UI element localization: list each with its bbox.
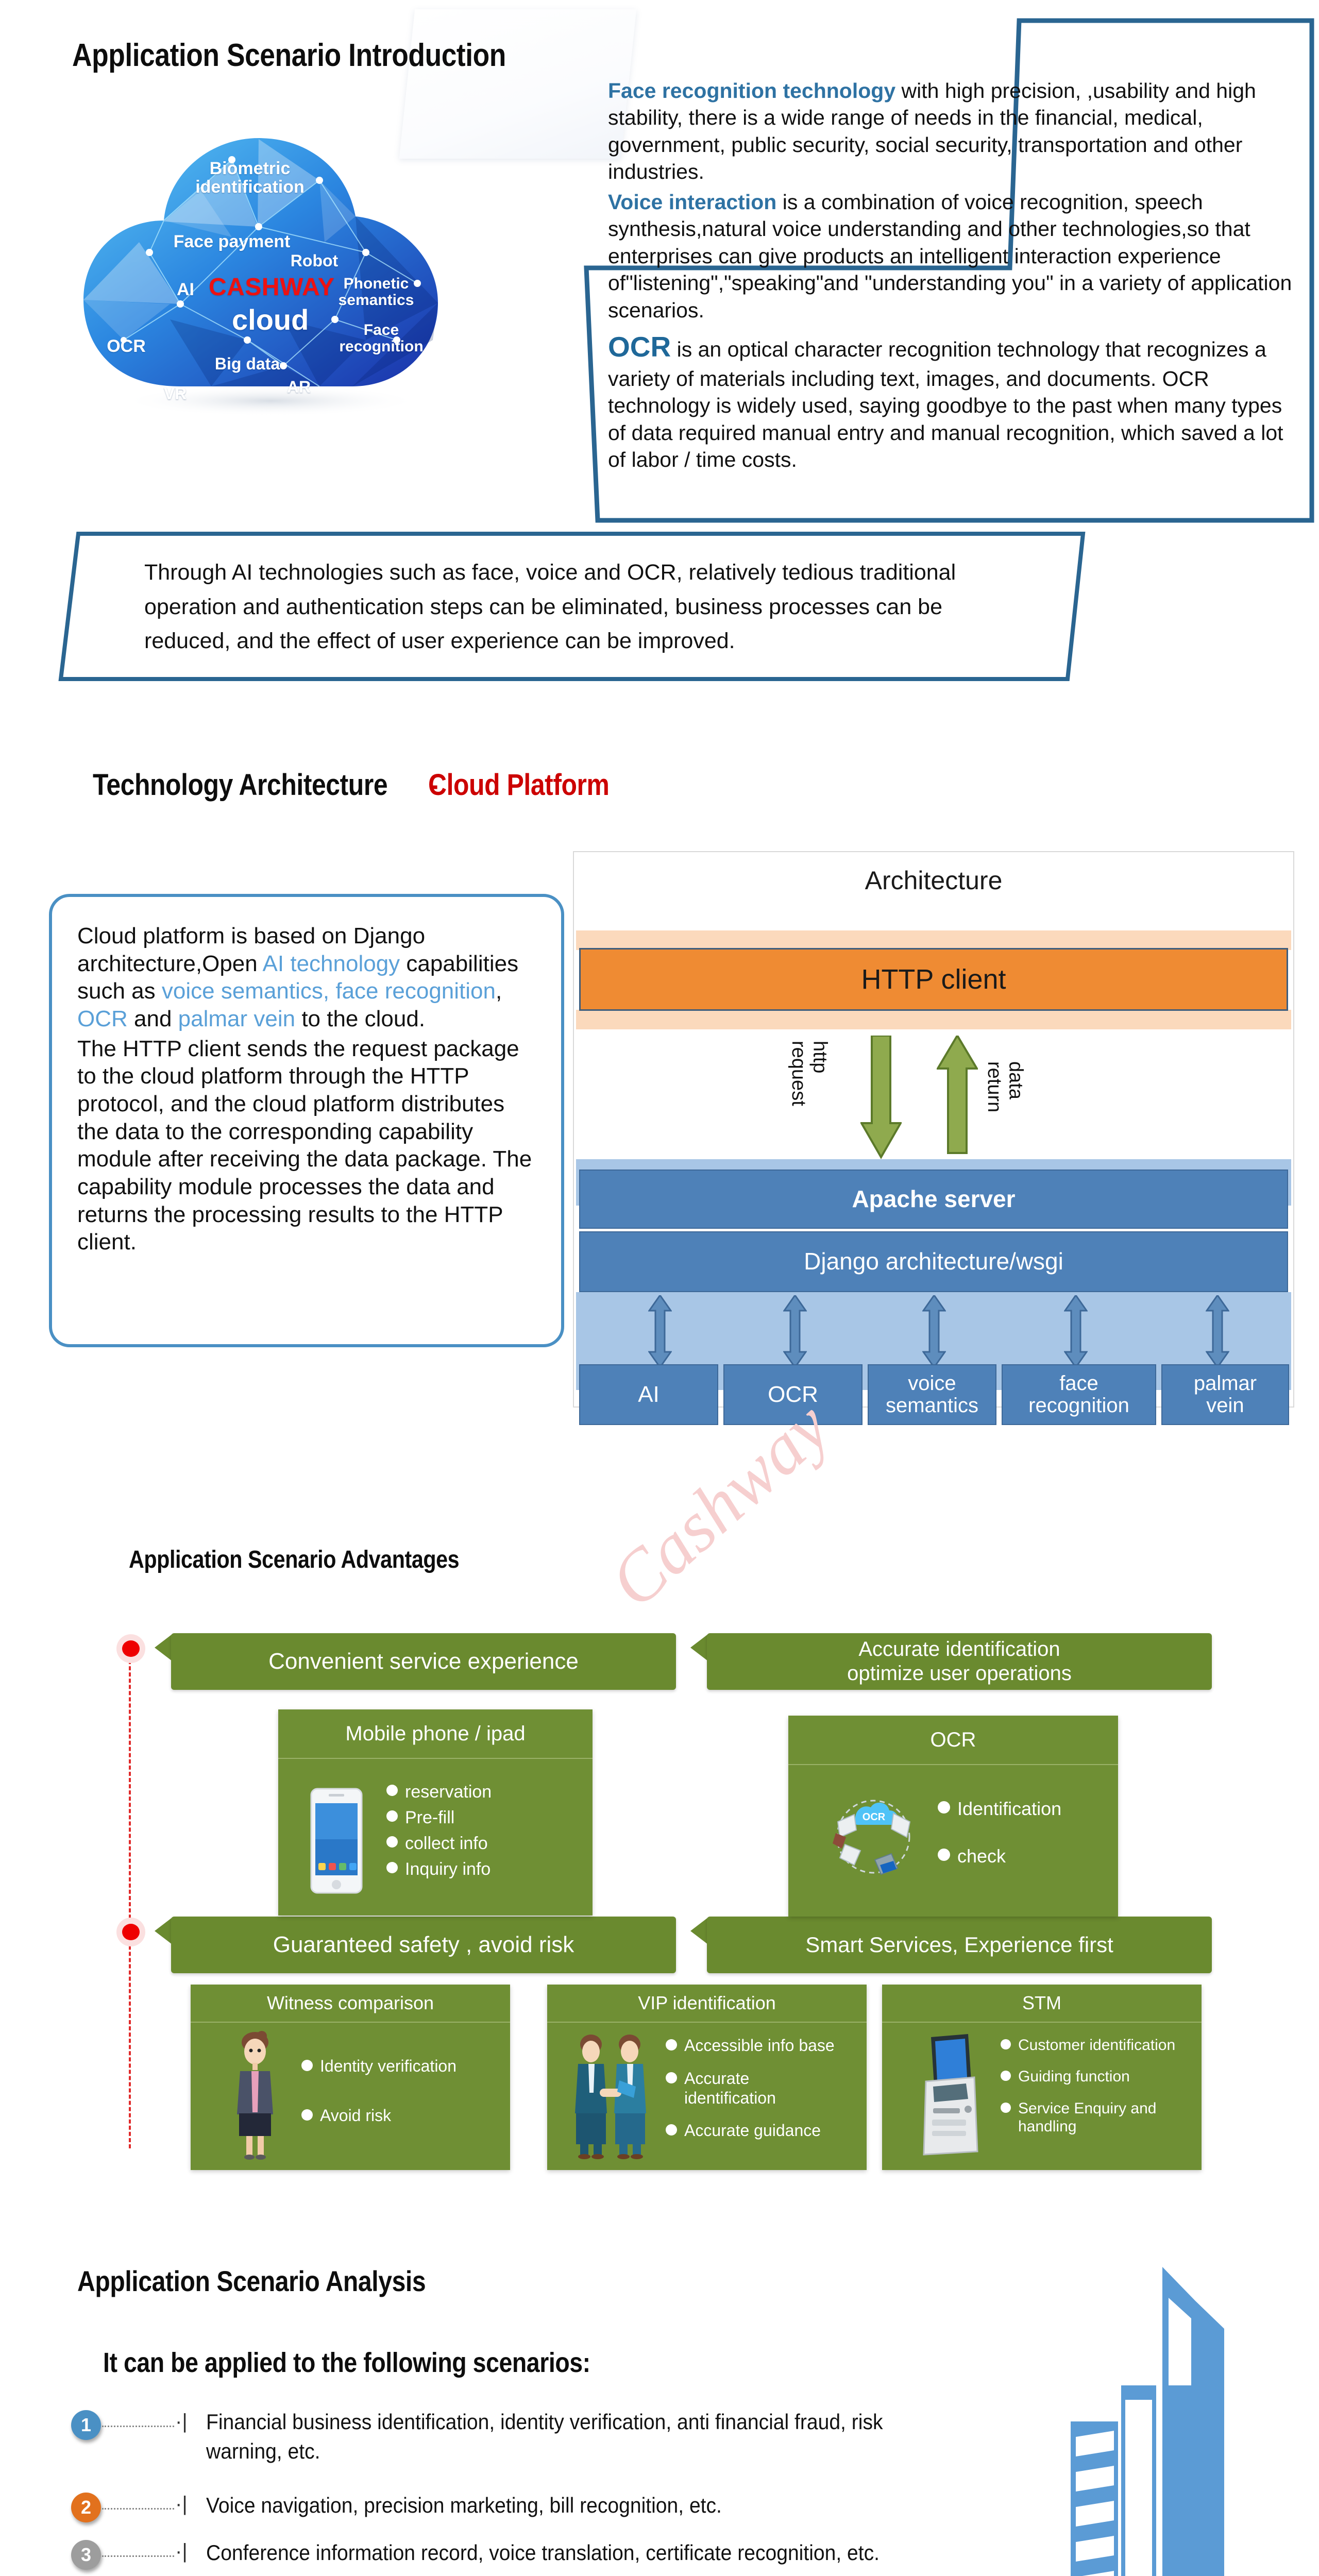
cp-hl-face: face recognition	[335, 978, 496, 1004]
bullet-label: check	[957, 1845, 1006, 1867]
analysis-badge-2: 2	[71, 2493, 101, 2522]
bullet-label: Inquiry info	[405, 1859, 491, 1879]
intro-heading-face: Face recognition technology	[608, 79, 895, 103]
bullet-dot	[666, 2039, 677, 2050]
ribbon-convenient-service[interactable]: Convenient service experience	[171, 1633, 676, 1690]
arrow-up-return	[937, 1036, 978, 1154]
cp-hl-ocr: OCR	[77, 1006, 128, 1031]
apache-server-bar[interactable]: Apache server	[579, 1170, 1288, 1229]
building-icon	[1041, 2267, 1257, 2576]
cp-text-3: ,	[496, 978, 502, 1004]
bullet-dot	[1001, 2039, 1011, 2049]
architecture-title-accent: Cloud Platform	[428, 768, 609, 802]
cloud-label-ocr: OCR	[98, 337, 155, 356]
card-vip-identification-bullets: Accessible info base Accurate identifica…	[666, 2036, 836, 2146]
bullet-label: Accessible info base	[684, 2036, 835, 2056]
bullet-dot	[386, 1810, 398, 1822]
cp-text-6: The HTTP client sends the request packag…	[77, 1036, 532, 1255]
list-item: Identity verification	[301, 2057, 502, 2076]
list-item: Customer identification	[1001, 2036, 1186, 2054]
list-item: Pre-fill	[386, 1807, 582, 1828]
http-client-bar[interactable]: HTTP client	[579, 948, 1288, 1011]
card-witness-comparison-bullets: Identity verification Avoid risk	[301, 2057, 502, 2131]
ribbon-smart-services[interactable]: Smart Services, Experience first	[707, 1917, 1212, 1973]
intro-heading-ocr: OCR	[608, 331, 671, 363]
analysis-text-2: Voice navigation, precision marketing, b…	[206, 2490, 973, 2520]
module-arrow-4	[1064, 1295, 1088, 1367]
list-item: check	[938, 1845, 1108, 1867]
bullet-dot	[386, 1862, 398, 1873]
bullet-label: Pre-fill	[405, 1807, 454, 1828]
cp-text-4: and	[128, 1006, 178, 1031]
list-item: Inquiry info	[386, 1859, 582, 1879]
module-ai[interactable]: AI	[579, 1364, 718, 1425]
bullet-dot	[301, 2109, 313, 2121]
list-item: Identification	[938, 1798, 1108, 1820]
arrow-down-request	[860, 1036, 902, 1159]
page-title-architecture: Technology Architecture - Cloud Platform	[93, 768, 639, 802]
analysis-lead-3	[102, 2555, 174, 2557]
intro-heading-voice: Voice interaction	[608, 190, 776, 214]
bullet-dot	[1001, 2103, 1011, 2113]
page-title-advantages: Application Scenario Advantages	[129, 1546, 459, 1574]
architecture-panel-title: Architecture	[573, 866, 1294, 895]
list-item: Accurate identification	[666, 2069, 836, 2108]
cloud-label-face-recognition: Face recognition	[330, 322, 433, 354]
cp-hl-ai: AI technology	[263, 951, 400, 976]
analysis-text-3: Conference information record, voice tra…	[206, 2538, 1117, 2567]
cloud-label-vr: VR	[155, 385, 196, 403]
card-ocr-title: OCR	[788, 1716, 1118, 1765]
analysis-badge-1: 1	[71, 2410, 101, 2440]
module-arrow-3	[922, 1295, 946, 1367]
analysis-bullet-1: ·|	[175, 2410, 188, 2433]
architecture-title-main: Technology Architecture	[93, 768, 387, 802]
bullet-label: Accurate guidance	[684, 2121, 821, 2141]
timeline-marker-1	[122, 1640, 140, 1657]
module-arrow-2	[783, 1295, 807, 1367]
bullet-dot	[386, 1785, 398, 1796]
card-ocr[interactable]: OCR OCR Identification check	[788, 1716, 1118, 1917]
cloud-label-biometric-identification: Biometric identification	[183, 160, 317, 196]
analysis-badge-3: 3	[71, 2540, 101, 2570]
bullet-label: Service Enquiry and handling	[1018, 2099, 1186, 2136]
kiosk-icon	[910, 2032, 988, 2161]
bullet-label: collect info	[405, 1833, 488, 1854]
intro-body-ocr: is an optical character recognition tech…	[608, 337, 1283, 471]
ribbon-notch-2	[690, 1634, 708, 1661]
cashway-cloud-graphic: Biometric identification Face payment Ro…	[77, 98, 453, 417]
list-item: Accurate guidance	[666, 2121, 836, 2141]
cp-text-5: to the cloud.	[295, 1006, 425, 1031]
http-band-bottom	[576, 1010, 1291, 1029]
data-return-label: data return	[983, 1061, 1026, 1112]
bullet-dot	[938, 1801, 950, 1814]
card-vip-identification[interactable]: VIP identification Accessible info base …	[547, 1985, 867, 2170]
bullet-dot	[666, 2124, 677, 2136]
timeline-line	[129, 1654, 131, 2148]
card-witness-comparison[interactable]: Witness comparison Identity verification…	[191, 1985, 510, 2170]
cloud-label-ai: AI	[165, 281, 206, 299]
cp-hl-voice: voice semantics,	[162, 978, 329, 1004]
bullet-label: Guiding function	[1018, 2067, 1130, 2086]
analysis-bullet-3: ·|	[175, 2540, 188, 2563]
summary-text: Through AI technologies such as face, vo…	[144, 555, 1000, 658]
bullet-dot	[666, 2072, 677, 2083]
ribbon-guaranteed-safety[interactable]: Guaranteed safety , avoid risk	[171, 1917, 676, 1973]
timeline-marker-2	[122, 1924, 140, 1940]
ribbon-accurate-identification[interactable]: Accurate identification optimize user op…	[707, 1633, 1212, 1690]
ribbon-notch-1	[155, 1634, 172, 1661]
card-mobile-phone-title: Mobile phone / ipad	[278, 1709, 593, 1759]
bullet-label: reservation	[405, 1782, 492, 1802]
ribbon-notch-4	[690, 1918, 708, 1944]
card-stm-bullets: Customer identification Guiding function…	[1001, 2036, 1186, 2141]
cloud-label-face-payment: Face payment	[165, 233, 299, 251]
bullet-label: Customer identification	[1018, 2036, 1175, 2054]
intro-paragraph-ocr: OCR is an optical character recognition …	[608, 329, 1293, 473]
analysis-lead-1	[102, 2426, 174, 2427]
card-mobile-phone-bullets: reservation Pre-fill collect info Inquir…	[386, 1782, 582, 1885]
summary-callout: Through AI technologies such as face, vo…	[57, 531, 1087, 685]
cp-hl-palmar: palmar vein	[178, 1006, 295, 1031]
handshake-icon	[568, 2031, 655, 2160]
list-item: reservation	[386, 1782, 582, 1802]
person-icon	[222, 2031, 289, 2160]
ribbon-notch-3	[155, 1918, 172, 1944]
module-arrow-1	[648, 1295, 672, 1367]
list-item: Accessible info base	[666, 2036, 836, 2056]
module-face-recognition[interactable]: face recognition	[1002, 1364, 1156, 1425]
cloud-label-big-data: Big data	[196, 355, 299, 373]
analysis-subtitle: It can be applied to the following scena…	[103, 2347, 590, 2379]
bullet-dot	[386, 1836, 398, 1848]
bullet-dot	[301, 2060, 313, 2071]
list-item: Avoid risk	[301, 2106, 502, 2126]
django-architecture-bar[interactable]: Django architecture/wsgi	[579, 1231, 1288, 1292]
module-arrow-5	[1206, 1295, 1229, 1367]
bullet-dot	[1001, 2071, 1011, 2081]
analysis-text-1: Financial business identification, ident…	[206, 2407, 944, 2466]
http-band-top	[576, 930, 1291, 950]
intro-paragraph-face: Face recognition technology with high pr…	[608, 77, 1293, 185]
list-item: collect info	[386, 1833, 582, 1854]
card-witness-comparison-title: Witness comparison	[191, 1985, 510, 2023]
card-vip-identification-title: VIP identification	[547, 1985, 867, 2023]
bullet-label: Accurate identification	[684, 2069, 836, 2108]
intro-description-block: Face recognition technology with high pr…	[608, 77, 1293, 474]
module-voice-semantics[interactable]: voice semantics	[868, 1364, 996, 1425]
cloud-platform-description-text: Cloud platform is based on Django archit…	[77, 922, 536, 1256]
list-item: Guiding function	[1001, 2067, 1186, 2086]
cashway-cloud-text: cloud	[232, 303, 309, 336]
list-item: Service Enquiry and handling	[1001, 2099, 1186, 2136]
card-stm-title: STM	[882, 1985, 1202, 2023]
cloud-label-phonetic-semantics: Phonetic semantics	[325, 276, 428, 308]
analysis-bullet-2: ·|	[175, 2493, 188, 2516]
cashway-brand-text: CASHWAY	[209, 273, 334, 301]
module-ocr[interactable]: OCR	[723, 1364, 863, 1425]
bullet-label: Avoid risk	[320, 2106, 391, 2126]
intro-paragraph-voice: Voice interaction is a combination of vo…	[608, 189, 1293, 324]
http-request-label: http request	[787, 1041, 831, 1106]
page-title-analysis: Application Scenario Analysis	[77, 2264, 426, 2298]
page-title-intro: Application Scenario Introduction	[72, 37, 506, 74]
bullet-label: Identity verification	[320, 2057, 456, 2076]
card-ocr-bullets: Identification check	[938, 1798, 1108, 1873]
module-palmar-vein[interactable]: palmar vein	[1161, 1364, 1289, 1425]
smartphone-icon	[308, 1787, 365, 1895]
svg-text:OCR: OCR	[863, 1811, 886, 1823]
cloud-label-ar: AR	[278, 379, 319, 396]
bullet-dot	[938, 1849, 950, 1861]
bullet-label: Identification	[957, 1798, 1061, 1820]
card-stm[interactable]: STM Customer identification Guiding func…	[882, 1985, 1202, 2170]
ocr-cloud-icon: OCR	[824, 1788, 922, 1886]
cloud-label-robot: Robot	[281, 252, 348, 270]
analysis-lead-2	[102, 2508, 174, 2510]
card-mobile-phone[interactable]: Mobile phone / ipad reservation Pre-fill…	[278, 1709, 593, 1916]
